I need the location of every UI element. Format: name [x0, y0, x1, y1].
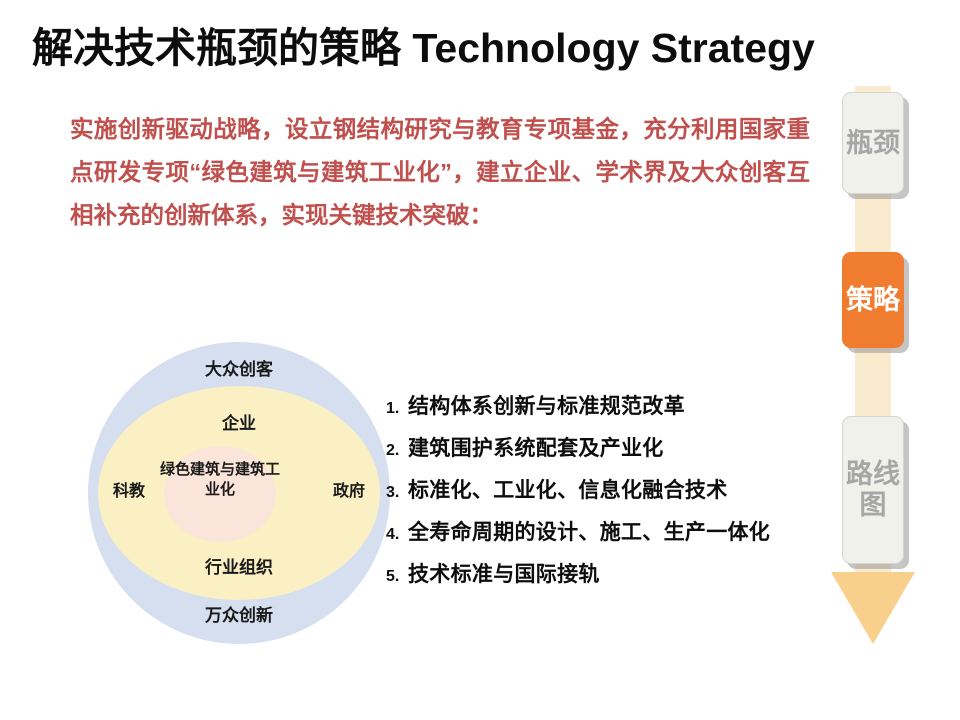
- strategy-list: 1. 结构体系创新与标准规范改革 2. 建筑围护系统配套及产业化 3. 标准化、…: [386, 390, 836, 600]
- stage-item-strategy[interactable]: 策略: [842, 252, 904, 348]
- diagram-label-middle-left: 科教: [96, 482, 162, 502]
- list-item: 3. 标准化、工业化、信息化融合技术: [386, 474, 836, 504]
- stage-item-roadmap[interactable]: 路线图: [842, 416, 904, 564]
- diagram-label-outer-bottom: 万众创新: [88, 606, 390, 627]
- innovation-ecosystem-diagram: 大众创客 万众创新 企业 科教 政府 行业组织 绿色建筑与建筑工业化: [88, 342, 390, 644]
- diagram-label-middle-right: 政府: [316, 482, 382, 502]
- list-item-text: 标准化、工业化、信息化融合技术: [408, 474, 728, 504]
- stage-item-label: 瓶颈: [846, 128, 900, 159]
- list-item: 5. 技术标准与国际接轨: [386, 558, 836, 588]
- stage-item-label: 路线图: [843, 459, 903, 521]
- list-item-number: 1.: [386, 400, 408, 418]
- diagram-label-middle-top: 企业: [88, 414, 390, 435]
- page-title: 解决技术瓶颈的策略 Technology Strategy: [32, 24, 892, 72]
- list-item-text: 建筑围护系统配套及产业化: [408, 432, 664, 462]
- diagram-label-core: 绿色建筑与建筑工业化: [160, 460, 280, 499]
- list-item-number: 2.: [386, 442, 408, 460]
- stage-item-bottleneck[interactable]: 瓶颈: [842, 92, 904, 194]
- list-item-text: 技术标准与国际接轨: [408, 558, 600, 588]
- list-item: 4. 全寿命周期的设计、施工、生产一体化: [386, 516, 836, 546]
- list-item-number: 5.: [386, 568, 408, 586]
- list-item: 1. 结构体系创新与标准规范改革: [386, 390, 836, 420]
- diagram-label-middle-bottom: 行业组织: [88, 558, 390, 579]
- list-item-number: 3.: [386, 484, 408, 502]
- stage-item-label: 策略: [846, 285, 900, 316]
- down-arrow-head-icon: [831, 572, 915, 644]
- lead-paragraph: 实施创新驱动战略，设立钢结构研究与教育专项基金，充分利用国家重点研发专项“绿色建…: [70, 108, 810, 237]
- stage-progress-column: 瓶颈 策略 路线图: [834, 86, 944, 646]
- slide-canvas: 解决技术瓶颈的策略 Technology Strategy 实施创新驱动战略，设…: [0, 0, 960, 720]
- list-item: 2. 建筑围护系统配套及产业化: [386, 432, 836, 462]
- diagram-label-outer-top: 大众创客: [88, 360, 390, 381]
- list-item-text: 全寿命周期的设计、施工、生产一体化: [408, 516, 770, 546]
- list-item-number: 4.: [386, 526, 408, 544]
- list-item-text: 结构体系创新与标准规范改革: [408, 390, 685, 420]
